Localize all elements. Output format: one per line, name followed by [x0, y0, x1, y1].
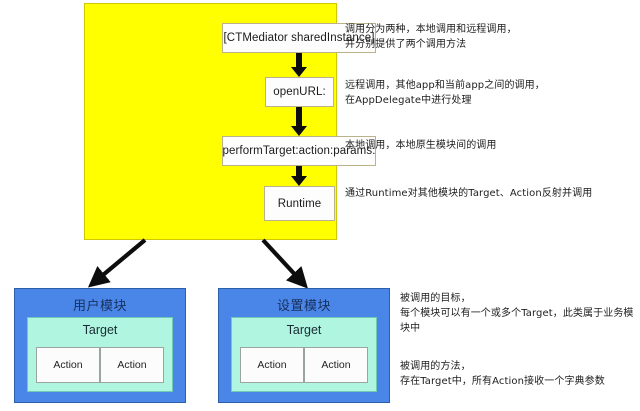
arrow-shared-instance-to-open-url	[296, 53, 302, 68]
module-user-action-row: Action Action	[36, 346, 164, 384]
module-user-title: 用户模块	[15, 295, 185, 314]
module-setting-title: 设置模块	[219, 295, 389, 314]
arrow-perform-target-to-runtime	[296, 166, 302, 177]
annotation-remote-call: 远程调用，其他app和当前app之间的调用， 在AppDelegate中进行处理	[345, 78, 635, 108]
module-user-action-1: Action	[36, 347, 100, 383]
module-user-target: Target Action Action	[27, 317, 173, 392]
module-user: 用户模块 Target Action Action	[14, 288, 186, 403]
module-setting-target: Target Action Action	[231, 317, 377, 392]
arrow-to-user-module	[97, 240, 145, 280]
module-user-target-label: Target	[28, 323, 172, 337]
annotation-action: 被调用的方法， 存在Target中，所有Action接收一个字典参数	[400, 359, 640, 389]
module-user-action-2: Action	[100, 347, 164, 383]
arrow-open-url-to-perform-target	[296, 107, 302, 127]
flow-box-runtime: Runtime	[264, 186, 335, 221]
module-setting: 设置模块 Target Action Action	[218, 288, 390, 403]
flow-box-open-url: openURL:	[265, 77, 334, 107]
module-setting-action-1: Action	[240, 347, 304, 383]
module-setting-action-2: Action	[304, 347, 368, 383]
annotation-target: 被调用的目标， 每个模块可以有一个或多个Target，此类属于业务模块中	[400, 291, 640, 336]
annotation-call-types: 调用分为两种，本地调用和远程调用， 并分别提供了两个调用方法	[345, 22, 635, 52]
module-setting-action-row: Action Action	[240, 346, 368, 384]
mediator-panel: [CTMediator sharedInstance] openURL: per…	[84, 3, 337, 240]
module-setting-target-label: Target	[232, 323, 376, 337]
annotation-local-call: 本地调用，本地原生模块间的调用	[345, 138, 635, 153]
annotation-runtime: 通过Runtime对其他模块的Target、Action反射并调用	[345, 186, 635, 201]
arrow-to-setting-module	[263, 240, 300, 280]
